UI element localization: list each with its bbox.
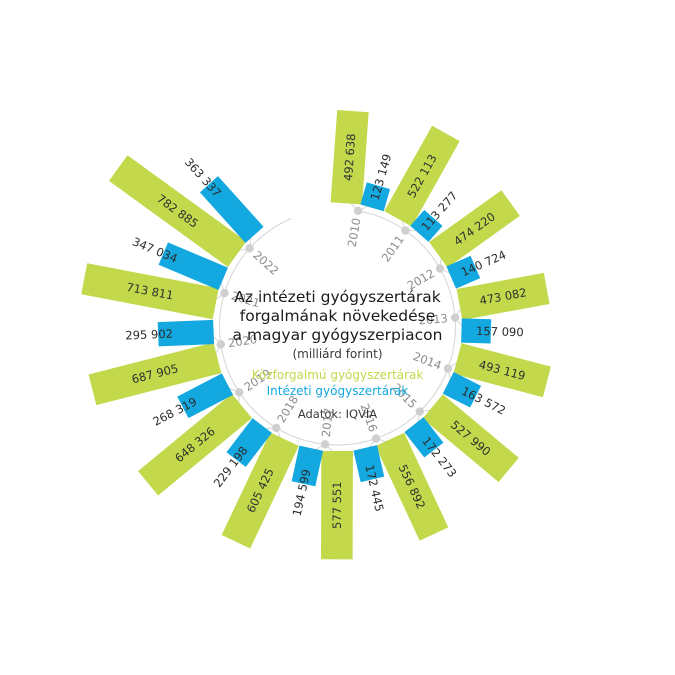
year-labels-layer: 2010201120122013201420152016201720182019… bbox=[227, 217, 448, 438]
year-label: 2012 bbox=[405, 266, 437, 293]
year-tick-dot bbox=[321, 440, 329, 448]
year-label: 2021 bbox=[230, 289, 262, 311]
year-tick-dot bbox=[372, 434, 380, 442]
year-label: 2017 bbox=[319, 407, 336, 438]
year-label: 2019 bbox=[241, 366, 273, 394]
year-tick-dot bbox=[401, 226, 409, 234]
radial-bar-chart: 492 638123 149522 113113 277474 220140 7… bbox=[0, 0, 675, 675]
year-label: 2018 bbox=[274, 393, 301, 425]
year-tick-dot bbox=[416, 407, 424, 415]
bar-value-label: 577 551 bbox=[330, 481, 344, 529]
chart-canvas: 492 638123 149522 113113 277474 220140 7… bbox=[0, 0, 675, 675]
year-label: 2015 bbox=[389, 380, 419, 411]
year-tick-dot bbox=[235, 388, 243, 396]
year-label: 2014 bbox=[411, 349, 443, 372]
year-tick-dot bbox=[451, 313, 459, 321]
bar-value-label: 172 445 bbox=[362, 463, 386, 512]
year-label: 2022 bbox=[250, 248, 281, 278]
year-tick-dot bbox=[444, 364, 452, 372]
year-label: 2020 bbox=[227, 332, 258, 350]
bar-value-label: 157 090 bbox=[476, 324, 524, 339]
year-tick-dot bbox=[220, 289, 228, 297]
year-tick-dot bbox=[436, 264, 444, 272]
year-label: 2016 bbox=[357, 402, 380, 434]
bar-value-label: 295 902 bbox=[125, 327, 173, 343]
year-label: 2010 bbox=[345, 217, 364, 248]
year-label: 2011 bbox=[379, 233, 407, 265]
bar-value-label: 347 034 bbox=[130, 234, 179, 265]
year-tick-dot bbox=[272, 424, 280, 432]
bar-value-label: 123 149 bbox=[368, 152, 395, 202]
year-label: 2013 bbox=[418, 311, 448, 327]
year-tick-dot bbox=[217, 340, 225, 348]
year-tick-dot bbox=[354, 207, 362, 215]
year-tick-dot bbox=[245, 244, 253, 252]
